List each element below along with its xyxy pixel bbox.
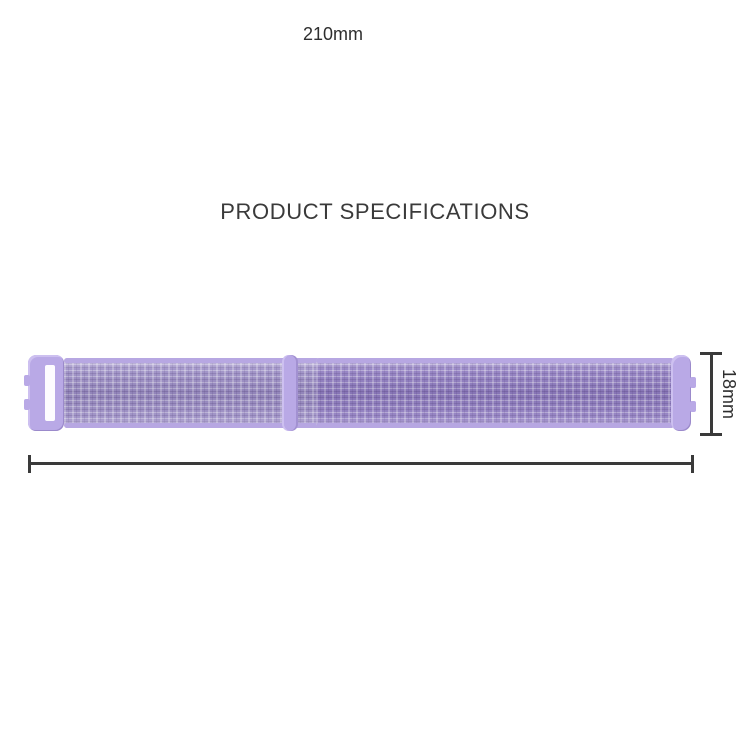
product-illustration xyxy=(28,352,693,434)
buckle-frame xyxy=(28,355,64,431)
end-cap-tab-lower xyxy=(690,401,696,412)
nylon-weave-texture-right xyxy=(316,358,674,428)
width-dimension-line xyxy=(28,455,694,479)
height-dimension-label: 18mm xyxy=(718,352,739,436)
keeper-loop xyxy=(282,355,298,431)
specification-image: PRODUCT SPECIFICATIONS xyxy=(0,0,750,750)
height-dimension-line: 18mm xyxy=(700,352,746,436)
buckle-slot xyxy=(45,365,55,421)
weave-sheen-right xyxy=(316,358,674,428)
width-tick-right xyxy=(691,455,694,473)
page-title: PRODUCT SPECIFICATIONS xyxy=(0,199,750,225)
height-dimension-rule xyxy=(710,352,713,436)
width-dimension-rule xyxy=(28,462,694,465)
width-dimension-label: 210mm xyxy=(0,24,666,45)
end-cap-tab-upper xyxy=(690,377,696,388)
buckle-tab-lower xyxy=(24,399,30,410)
strap-edge-top-right xyxy=(316,358,674,363)
strap-section-right xyxy=(316,358,674,428)
end-cap xyxy=(671,355,691,431)
strap-edge-bottom-right xyxy=(316,423,674,428)
buckle-tab-upper xyxy=(24,375,30,386)
